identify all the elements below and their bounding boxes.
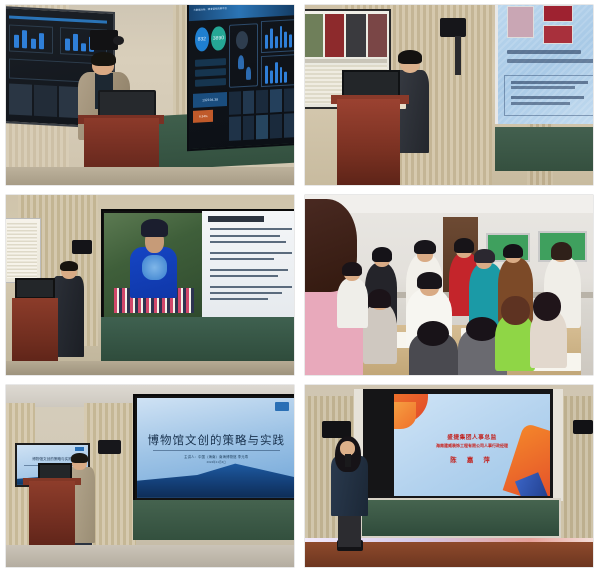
floor [6, 361, 294, 375]
person-hair [503, 244, 523, 258]
bar-chart-widget-2 [262, 53, 294, 87]
podium [337, 99, 400, 185]
chalkboard [360, 498, 562, 538]
stat-row [195, 57, 226, 66]
video-camera-icon [72, 240, 92, 254]
costume-photo-3 [543, 25, 573, 45]
kpi-badge-2: 3890 [212, 26, 226, 51]
blue-presentation-slide [495, 5, 593, 124]
camera-lens-icon [113, 36, 125, 45]
photo-weaver-lecture[interactable] [6, 195, 294, 375]
secondary-value: 6.34% [194, 110, 214, 123]
slide-subtitle: 主讲人：中国（海南）南海博物馆 李元寿 [147, 454, 286, 459]
photo-collage: 大数据分析、精准营销决策平台 832 3890 [0, 0, 600, 571]
highlight-value: 132194.38 [194, 92, 227, 108]
product-grid [229, 88, 294, 141]
floor [6, 545, 294, 567]
weaver-photograph [104, 213, 202, 317]
photo-hr-speaker[interactable]: 盛捷集团人事总监 海南建威装饰工程有限公司人事行政经理 陈 嘉 萍 [305, 385, 593, 567]
chart-tile [9, 24, 53, 53]
wood-slat-wall-right [561, 396, 593, 538]
photo-workshop-group[interactable] [305, 195, 593, 375]
photo-museum-title-lecture[interactable]: 博物馆文创的策略与实践 主讲人：中国（海南）南海博物馆 李元寿 2024年11月… [6, 385, 294, 567]
slide-line-1: 盛捷集团人事总监 [400, 433, 543, 441]
museum-logo-icon [275, 402, 289, 411]
person-hair [372, 247, 392, 261]
slide-heading-bar [208, 216, 265, 221]
slide-heading-line-2 [507, 59, 593, 63]
video-camera-icon [440, 18, 466, 38]
video-camera-icon [98, 440, 121, 455]
speaker-hair [60, 261, 79, 272]
camera-stand [455, 36, 461, 76]
microphone-icon [345, 454, 351, 467]
slide-speaker-name: 陈 嘉 萍 [400, 455, 543, 464]
museum-title-slide: 博物馆文创的策略与实践 主讲人：中国（海南）南海博物馆 李元寿 2024年11月… [137, 398, 294, 498]
slide-date: 2024年11月4日 [147, 460, 286, 464]
weaver-bib-ornament [142, 255, 166, 280]
weaver-headwrap [141, 219, 167, 237]
person-hair [454, 238, 474, 252]
stat-row [195, 77, 226, 86]
chalkboard [495, 127, 593, 170]
person-beanie [414, 240, 436, 254]
person-hair [466, 317, 498, 340]
podium-monitor [15, 278, 55, 300]
speaker-hair [91, 52, 116, 66]
floorplan-widget [229, 22, 258, 87]
chalkboard [101, 317, 294, 360]
bar-chart-widget [262, 19, 294, 53]
costume-photo-2 [543, 5, 573, 22]
photo-costume-lecture[interactable] [305, 5, 593, 185]
photo-dashboard-lecture[interactable]: 大数据分析、精准营销决策平台 832 3890 [6, 5, 294, 185]
slide-heading-line [507, 50, 582, 54]
stat-row [195, 67, 226, 76]
instructor-hair [417, 272, 441, 288]
person-hair [417, 321, 449, 346]
speaker-hair [71, 453, 88, 463]
chalkboard [133, 500, 294, 540]
hr-title-slide: 盛捷集团人事总监 海南建威装饰工程有限公司人事行政经理 陈 嘉 萍 [394, 394, 550, 496]
person-hair [533, 292, 562, 321]
person-hair [342, 262, 362, 276]
person-hair [501, 296, 530, 325]
wall-poster [6, 218, 41, 283]
slide-divider [153, 450, 280, 451]
person-hair [551, 242, 573, 260]
floor [6, 167, 294, 185]
speaker-legs [338, 511, 361, 547]
pillar-right [553, 389, 563, 502]
text-slide [202, 211, 294, 317]
costume-photo-1 [507, 6, 535, 38]
museum-building-graphic [137, 460, 294, 498]
person-hair [368, 289, 391, 309]
video-camera-icon-right [573, 420, 593, 435]
orange-corner-graphic-2 [394, 402, 416, 428]
slide-title: 博物馆文创的策略与实践 [147, 432, 286, 448]
speaker-hair [398, 50, 422, 64]
kpi-badge-1: 832 [195, 27, 209, 52]
person-hair [474, 249, 494, 263]
person-standing [337, 278, 369, 328]
slide-line-2: 海南建威装饰工程有限公司人事行政经理 [397, 443, 546, 449]
slide-bullet-box [504, 75, 593, 117]
dashboard-screen: 大数据分析、精准营销决策平台 832 3890 [187, 5, 294, 150]
